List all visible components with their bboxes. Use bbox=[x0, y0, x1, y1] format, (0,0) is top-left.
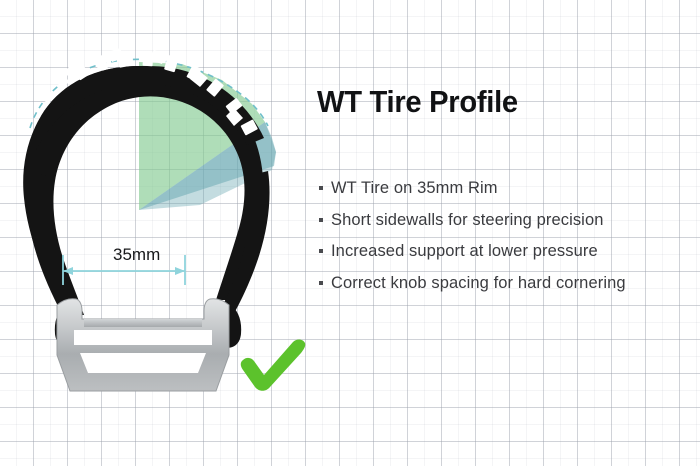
rim-cavity-upper bbox=[74, 330, 212, 345]
bullet-square-icon bbox=[319, 249, 323, 253]
page-title: WT Tire Profile bbox=[317, 84, 518, 120]
rim-cavity-lower bbox=[80, 353, 206, 373]
list-item: WT Tire on 35mm Rim bbox=[319, 178, 699, 198]
slide-canvas: 35mm WT Tire Profile WT Tire on 35mm Rim… bbox=[0, 0, 700, 466]
rim-width-label: 35mm bbox=[113, 245, 160, 265]
rim-bed-highlight bbox=[84, 319, 202, 327]
list-item: Short sidewalls for steering precision bbox=[319, 210, 699, 230]
text-column: WT Tire Profile WT Tire on 35mm Rim Shor… bbox=[305, 0, 700, 466]
bullet-square-icon bbox=[319, 218, 323, 222]
list-item: Increased support at lower pressure bbox=[319, 241, 699, 261]
list-item-label: WT Tire on 35mm Rim bbox=[331, 178, 498, 198]
feature-bullet-list: WT Tire on 35mm Rim Short sidewalls for … bbox=[319, 178, 699, 304]
list-item-label: Increased support at lower pressure bbox=[331, 241, 598, 261]
check-icon bbox=[241, 339, 306, 390]
bullet-square-icon bbox=[319, 186, 323, 190]
list-item-label: Short sidewalls for steering precision bbox=[331, 210, 604, 230]
list-item-label: Correct knob spacing for hard cornering bbox=[331, 273, 626, 293]
list-item: Correct knob spacing for hard cornering bbox=[319, 273, 699, 293]
bullet-square-icon bbox=[319, 281, 323, 285]
tire-cross-section-diagram: 35mm bbox=[0, 0, 320, 466]
tire-diagram-svg bbox=[0, 0, 320, 466]
